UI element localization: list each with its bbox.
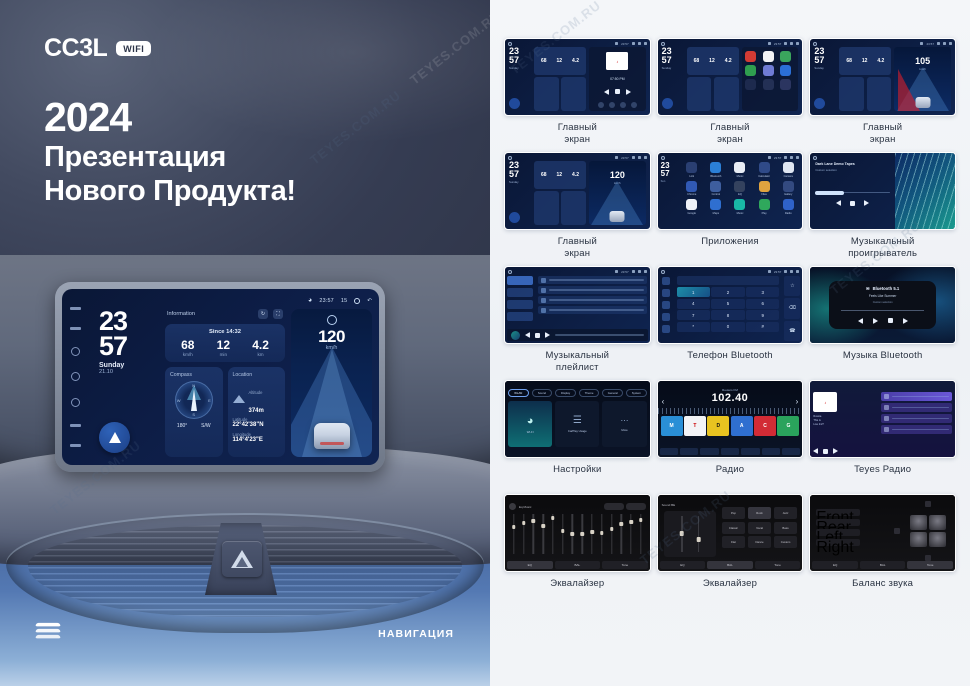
stat-value: 12 xyxy=(217,339,230,351)
settings-tab[interactable]: Sound xyxy=(532,389,553,397)
caption-line1: Эквалайзер xyxy=(550,578,604,589)
pause-icon[interactable] xyxy=(850,201,855,206)
eq-preset[interactable]: Classic xyxy=(722,522,746,534)
eq-band xyxy=(617,514,625,554)
caption: Музыкальный плейлист xyxy=(545,350,609,374)
screen-side-rail[interactable] xyxy=(62,289,88,465)
trip-since: Since 14:32 xyxy=(170,329,280,335)
dial-key[interactable]: 1 xyxy=(677,287,710,297)
speaker-rear-left xyxy=(910,532,927,547)
caption-line1: Музыкальный xyxy=(545,350,609,361)
eq-preset[interactable]: Flat xyxy=(722,536,746,548)
speaker-rear-right xyxy=(929,532,946,547)
screenshot-home-drive-red[interactable]: 23:57 2357Sunday 68124.2 105 km/h xyxy=(809,38,956,116)
settings-card-more[interactable]: ⋯ More xyxy=(602,401,646,447)
dialpad[interactable]: 1 2 3 4 5 6 7 8 9 * 0 # xyxy=(677,287,780,332)
location-widget[interactable]: Location Altitude 374m xyxy=(228,367,286,457)
screenshot-bluetooth-music[interactable]: 23:57 ✉ Bluetooth 5.1 Feels Like Summer … xyxy=(809,266,956,344)
screenshot-grid-panel: TEYES.COM.RU TEYES.COM.RU TEYES.COM.RU 2… xyxy=(490,0,970,686)
preset[interactable]: D xyxy=(707,416,729,436)
eq-band xyxy=(627,514,635,554)
screenshot-home-apps[interactable]: 23:57 2357Sunday 68124.2 xyxy=(657,38,804,116)
altitude-label: Altitude xyxy=(249,390,263,395)
compass-n: N xyxy=(192,383,195,388)
hazard-lights-button[interactable] xyxy=(222,541,262,577)
compass-e: E xyxy=(208,398,211,403)
current-speed: 120 xyxy=(291,327,372,347)
caption-line1: Главный xyxy=(710,122,749,133)
carplay-icon: ☰ xyxy=(573,415,582,426)
next-icon[interactable] xyxy=(833,448,838,454)
caption: Приложения xyxy=(701,236,759,260)
dial-key[interactable]: 4 xyxy=(677,299,710,309)
hazard-triangle-icon xyxy=(231,550,253,568)
mini-speed: 105 xyxy=(894,56,951,66)
station-row[interactable] xyxy=(881,403,952,412)
dial-key[interactable]: 2 xyxy=(711,287,744,297)
eq-preset[interactable]: Rock xyxy=(748,507,772,519)
balance-left-icon[interactable] xyxy=(894,528,900,534)
playlist-tab[interactable] xyxy=(507,312,533,321)
screenshot-sound-balance[interactable]: 23:57 Front Rear Left Right xyxy=(809,494,956,572)
next-icon[interactable] xyxy=(545,332,550,338)
playlist-tab[interactable] xyxy=(507,288,533,297)
frequency-dial[interactable] xyxy=(658,408,803,414)
dial-key[interactable]: 8 xyxy=(711,310,744,320)
dial-key[interactable]: 0 xyxy=(711,322,744,332)
caption: Эквалайзер xyxy=(703,578,757,602)
caption-line2: экран xyxy=(564,134,590,145)
next-icon[interactable] xyxy=(864,200,869,206)
next-station-icon[interactable]: › xyxy=(796,397,799,406)
head-unit-screen[interactable]: ◕ 23:57 15 ↶ 23 57 Sunday xyxy=(62,289,379,465)
radio-toolbar-button[interactable] xyxy=(721,448,739,455)
playlist-row[interactable] xyxy=(538,306,647,314)
card-label: CarPlay Usage xyxy=(568,429,587,433)
dial-key[interactable]: # xyxy=(746,322,779,332)
layers-icon xyxy=(36,622,60,642)
rail-menu-icon[interactable] xyxy=(70,307,81,310)
trip-stat: 4.2 km xyxy=(252,339,269,357)
station-row[interactable] xyxy=(881,414,952,423)
station-row[interactable] xyxy=(881,425,952,434)
bt-progress[interactable] xyxy=(841,310,924,311)
compass-s: S xyxy=(192,412,195,417)
eq-preset[interactable]: Pop xyxy=(722,507,746,519)
mini-speed: 120 xyxy=(589,170,646,180)
eq-preset-button[interactable] xyxy=(604,503,624,510)
eq-tab[interactable]: EQ xyxy=(812,561,858,569)
caption: Главный экран xyxy=(710,122,749,146)
radio-toolbar-button[interactable] xyxy=(782,448,800,455)
status-time: 23:57 xyxy=(319,298,334,304)
screenshot-equalizer[interactable]: 23:57 Eq Music xyxy=(504,494,651,572)
caption-line1: Радио xyxy=(716,464,744,475)
presentation-page: TEYES.COM.RU TEYES.COM.RU TEYES.COM.RU C… xyxy=(0,0,970,686)
card-label: More xyxy=(621,428,627,432)
caption: Баланс звука xyxy=(852,578,913,602)
screenshot-bluetooth-phone[interactable]: 23:57 1 2 xyxy=(657,266,804,344)
screenshot-playlist[interactable]: 23:57 xyxy=(504,266,651,344)
eq-band xyxy=(530,514,538,554)
caption: Радио xyxy=(716,464,744,488)
mountain-icon xyxy=(233,395,245,403)
mini-player-bar[interactable] xyxy=(507,329,648,341)
refresh-icon[interactable]: ↻ xyxy=(258,309,268,319)
bluetooth-version: Bluetooth 5.1 xyxy=(873,286,900,291)
dial-key[interactable]: 7 xyxy=(677,310,710,320)
eq-band xyxy=(578,514,586,554)
dial-key[interactable]: * xyxy=(677,322,710,332)
eq-title: Sound BE xyxy=(662,503,676,507)
settings-icon[interactable] xyxy=(662,325,670,333)
media-time: 07:50 PM xyxy=(610,77,625,81)
backspace-icon[interactable]: ⌫ xyxy=(784,298,800,318)
eq-band xyxy=(608,514,616,554)
eq-preset[interactable]: Dance xyxy=(748,536,772,548)
caption-line2: экран xyxy=(564,248,590,259)
longitude-value: 114°4'23"E xyxy=(233,437,281,443)
screenshot-equalizer-presets[interactable]: 23:57 Sound BE Pop Rock Jazz Classic V xyxy=(657,494,804,572)
head-unit-bezel: ◕ 23:57 15 ↶ 23 57 Sunday xyxy=(55,282,385,472)
preset[interactable]: A xyxy=(731,416,753,436)
album-art: ♪ xyxy=(813,392,837,412)
eq-band xyxy=(637,514,645,554)
eq-band xyxy=(569,514,577,554)
balance-side-list[interactable]: Front Rear Left Right xyxy=(816,509,860,546)
grid-item[interactable]: 23:57 2357Sunday 68124.2 xyxy=(657,38,804,146)
eq-preset[interactable]: Custom xyxy=(774,536,798,548)
eq-tab[interactable]: BAL xyxy=(860,561,906,569)
car-3d-model xyxy=(314,423,350,449)
head-unit-content: ◕ 23:57 15 ↶ 23 57 Sunday xyxy=(88,289,379,465)
eq-preset[interactable]: Bass xyxy=(774,522,798,534)
screenshot-grid: 23:57 2357Sunday 68124.2 ♪ 07:50 PM xyxy=(504,38,956,602)
wifi-icon: ◕ xyxy=(308,297,312,304)
previous-icon[interactable] xyxy=(836,200,841,206)
stat-unit: km/h xyxy=(181,352,194,357)
visualizer xyxy=(895,153,955,229)
navigation-label: НАВИГАЦИЯ xyxy=(378,628,454,640)
screenshot-settings[interactable]: 23:57 WLAN Sound Display Theme General S… xyxy=(504,380,651,458)
caption-line1: Главный xyxy=(558,236,597,247)
grid-item[interactable]: 23:57 Front Rear Left Right xyxy=(809,494,956,602)
grid-item[interactable]: 23:57 2357Sun Link Bluetooth Music Calcu… xyxy=(657,152,804,260)
radio-toolbar-button[interactable] xyxy=(700,448,718,455)
compass-heading: 180° xyxy=(177,423,187,429)
caption-line2: экран xyxy=(870,134,896,145)
caption-line2: экран xyxy=(717,134,743,145)
playlist-tab[interactable] xyxy=(507,300,533,309)
grid-item[interactable]: 23:57 Eq Music xyxy=(504,494,651,602)
wifi-badge: WIFI xyxy=(116,41,151,56)
grid-item[interactable]: 23:57 xyxy=(504,266,651,374)
radio-toolbar-button[interactable] xyxy=(660,448,678,455)
hero-year: 2024 xyxy=(44,94,296,140)
radio-toolbar-button[interactable] xyxy=(762,448,780,455)
screenshot-teyes-radio[interactable]: 23:57 ♪ RussiaThis isLive 24/7 xyxy=(809,380,956,458)
settings-tab[interactable]: System xyxy=(626,389,647,397)
eq-preset-button[interactable] xyxy=(626,503,646,510)
caption: Настройки xyxy=(553,464,601,488)
caption-line1: Музыка Bluetooth xyxy=(843,350,923,361)
rail-home-icon[interactable] xyxy=(71,372,80,381)
call-icon[interactable]: ☎ xyxy=(784,321,800,341)
eq-tab[interactable]: Tone xyxy=(907,561,953,569)
grid-item[interactable]: 23:57 1 2 xyxy=(657,266,804,374)
hero-panel: TEYES.COM.RU TEYES.COM.RU TEYES.COM.RU C… xyxy=(0,0,490,686)
more-icon: ⋯ xyxy=(621,416,629,425)
eq-preset-grid[interactable]: Pop Rock Jazz Classic Vocal Bass Flat Da… xyxy=(722,507,798,548)
preset[interactable]: T xyxy=(684,416,706,436)
preset[interactable]: M xyxy=(661,416,683,436)
trip-stat: 12 min xyxy=(217,339,230,357)
navigation-arrow-icon xyxy=(109,432,121,443)
rail-list-icon[interactable] xyxy=(70,327,81,330)
grid-item[interactable]: 23:57 2357Sunday 68124.2 ♪ 07:50 PM xyxy=(504,38,651,146)
screenshot-music-player[interactable]: 23:57 Dark Lane Demo Tapes Custom select… xyxy=(809,152,956,230)
altitude-value: 374m xyxy=(249,408,264,414)
eq-band xyxy=(539,514,547,554)
caption: Музыка Bluetooth xyxy=(843,350,923,374)
stop-icon[interactable] xyxy=(823,449,828,454)
dial-key[interactable]: 9 xyxy=(746,310,779,320)
balance-pad[interactable] xyxy=(904,509,952,553)
grid-item[interactable]: 23:57 2357Sunday 68124.2 120 km/h xyxy=(504,152,651,260)
mini-speed-unit: km/h xyxy=(589,181,646,185)
eq-tab[interactable]: EQ xyxy=(507,561,553,569)
eq-band xyxy=(549,514,557,554)
compass-direction: S/W xyxy=(201,423,210,429)
caption-line1: Главный xyxy=(558,122,597,133)
caption-line1: Приложения xyxy=(701,236,759,247)
balance-option[interactable]: Front xyxy=(816,509,860,516)
eq-tab[interactable]: BAL xyxy=(707,561,753,569)
stat-value: 68 xyxy=(181,339,194,351)
caption: Музыкальный проигрыватель xyxy=(848,236,917,260)
screenshot-home-drive[interactable]: 23:57 2357Sunday 68124.2 120 km/h xyxy=(504,152,651,230)
speed-unit: km/h xyxy=(291,345,372,351)
car-dashboard-photo: ◕ 23:57 15 ↶ 23 57 Sunday xyxy=(0,255,490,686)
preset[interactable]: C xyxy=(754,416,776,436)
grid-item[interactable]: 23:57 ✉ Bluetooth 5.1 Feels Like Summer … xyxy=(809,266,956,374)
caption-line1: Баланс звука xyxy=(852,578,913,589)
progress-bar[interactable] xyxy=(815,192,890,193)
eq-preset-icon[interactable] xyxy=(509,503,516,510)
station-meta: RussiaThis isLive 24/7 xyxy=(813,415,878,427)
bt-track: Feels Like Summer xyxy=(869,294,896,298)
status-bar: ◕ 23:57 15 ↶ xyxy=(95,295,372,306)
stop-icon[interactable] xyxy=(888,318,893,323)
caption: Главный экран xyxy=(863,122,902,146)
balance-up-icon[interactable] xyxy=(925,501,931,507)
eq-band xyxy=(598,514,606,554)
speed-limit-icon xyxy=(327,315,337,325)
caption: Главный экран xyxy=(558,122,597,146)
balance-option[interactable]: Right xyxy=(816,539,860,546)
navigation-fab[interactable] xyxy=(99,422,130,453)
stat-value: 4.2 xyxy=(252,339,269,351)
hero-subtitle-line2: Нового Продукта! xyxy=(44,174,296,208)
eq-dual-slider[interactable] xyxy=(664,511,716,557)
album-thumb xyxy=(511,331,520,340)
gear-icon[interactable] xyxy=(354,298,360,304)
playlist-row[interactable] xyxy=(538,296,647,304)
eq-tab[interactable]: EQ xyxy=(660,561,706,569)
grid-item[interactable]: 23:57 WLAN Sound Display Theme General S… xyxy=(504,380,651,488)
dialpad-icon[interactable] xyxy=(662,277,670,285)
hero-subtitle-line1: Презентация xyxy=(44,140,296,174)
information-title: Information xyxy=(167,311,195,317)
clock-widget: 23 57 Sunday 21.10 xyxy=(95,309,159,457)
dial-key[interactable]: 6 xyxy=(746,299,779,309)
eq-tab[interactable]: BAL xyxy=(555,561,601,569)
dial-key[interactable]: 3 xyxy=(746,287,779,297)
caption-line2: проигрыватель xyxy=(848,248,917,259)
settings-tab[interactable]: Display xyxy=(555,389,576,397)
star-icon[interactable]: ☆ xyxy=(784,276,800,296)
latitude-value: 22°42'38"N xyxy=(233,422,281,428)
rail-volume-up-icon[interactable] xyxy=(70,424,81,427)
radio-toolbar-button[interactable] xyxy=(741,448,759,455)
previous-icon[interactable] xyxy=(858,318,863,324)
settings-tab[interactable]: Theme xyxy=(579,389,600,397)
settings-tab[interactable]: WLAN xyxy=(508,389,529,397)
balance-option[interactable]: Rear xyxy=(816,519,860,526)
mini-speed-unit: km/h xyxy=(894,67,951,71)
stat-unit: km xyxy=(252,352,269,357)
screenshot-apps[interactable]: 23:57 2357Sun Link Bluetooth Music Calcu… xyxy=(657,152,804,230)
brand-logo: CC3L WIFI xyxy=(44,34,151,63)
caption-line1: Teyes Радио xyxy=(854,464,911,475)
track-artist: Custom selection xyxy=(815,168,890,172)
grid-item[interactable]: 23:57 Sound BE Pop Rock Jazz Classic V xyxy=(657,494,804,602)
dial-key[interactable]: 5 xyxy=(711,299,744,309)
settings-card-carplay[interactable]: ☰ CarPlay Usage xyxy=(555,401,599,447)
stat-unit: min xyxy=(217,352,230,357)
number-field[interactable] xyxy=(677,276,780,285)
card-label: WI-FI xyxy=(527,430,534,434)
clock-date: 21.10 xyxy=(99,369,159,375)
grid-item[interactable]: 23:57 2357Sunday 68124.2 105 km/h xyxy=(809,38,956,146)
radio-toolbar-button[interactable] xyxy=(680,448,698,455)
clock-minutes: 57 xyxy=(99,334,159,359)
bluetooth-icon: ✉ xyxy=(866,286,870,291)
back-icon[interactable]: ↶ xyxy=(367,298,372,304)
caption: Teyes Радио xyxy=(854,464,911,488)
playlist-row[interactable] xyxy=(538,276,647,284)
eq-band-sliders[interactable] xyxy=(505,510,650,554)
status-volume: 15 xyxy=(341,298,347,304)
driving-widget[interactable]: 120 km/h xyxy=(291,309,372,457)
next-icon[interactable] xyxy=(903,318,908,324)
expand-icon[interactable]: ⛶ xyxy=(273,309,283,319)
eq-title: Eq Music xyxy=(519,505,531,509)
caption: Телефон Bluetooth xyxy=(687,350,773,374)
caption-line1: Главный xyxy=(863,122,902,133)
album-art: ♪ xyxy=(606,52,628,70)
caption-line1: Настройки xyxy=(553,464,601,475)
hero-heading: 2024 Презентация Нового Продукта! xyxy=(44,94,296,208)
caption-line1: Телефон Bluetooth xyxy=(687,350,773,361)
contacts-icon[interactable] xyxy=(662,289,670,297)
compass-rose: N E S W xyxy=(175,381,213,419)
rail-back-icon[interactable] xyxy=(71,398,80,407)
location-title: Location xyxy=(233,372,281,378)
play-icon[interactable] xyxy=(873,318,878,324)
wifi-icon: ◕ xyxy=(527,415,534,427)
eq-preset[interactable]: Jazz xyxy=(774,507,798,519)
compass-widget[interactable]: Compass N E S W xyxy=(165,367,223,457)
speaker-front-left xyxy=(910,515,927,530)
rail-volume-down-icon[interactable] xyxy=(70,444,81,447)
call-log-icon[interactable] xyxy=(662,313,670,321)
eq-tab[interactable]: Tone xyxy=(755,561,801,569)
compass-w: W xyxy=(177,398,181,403)
brand-name: CC3L xyxy=(44,34,107,63)
grid-item[interactable]: 23:57 Reuters FM 102.40 ‹ › M T D xyxy=(657,380,804,488)
station-row[interactable] xyxy=(881,392,952,401)
speaker-front-right xyxy=(929,515,946,530)
settings-card-wifi[interactable]: ◕ WI-FI xyxy=(508,401,552,447)
pause-icon[interactable] xyxy=(535,333,540,338)
screenshot-home-media[interactable]: 23:57 2357Sunday 68124.2 ♪ 07:50 PM xyxy=(504,38,651,116)
playlist-row[interactable] xyxy=(538,286,647,294)
screenshot-radio[interactable]: 23:57 Reuters FM 102.40 ‹ › M T D xyxy=(657,380,804,458)
balance-option[interactable]: Left xyxy=(816,529,860,536)
previous-icon[interactable] xyxy=(813,448,818,454)
caption-line1: Музыкальный xyxy=(851,236,915,247)
grid-item[interactable]: 23:57 ♪ RussiaThis isLive 24/7 xyxy=(809,380,956,488)
favorites-icon[interactable] xyxy=(662,301,670,309)
preset[interactable]: G xyxy=(777,416,799,436)
previous-icon[interactable] xyxy=(525,332,530,338)
caption-line2: плейлист xyxy=(556,362,599,373)
eq-tab[interactable]: Tone xyxy=(602,561,648,569)
caption-line1: Эквалайзер xyxy=(703,578,757,589)
clock-day: Sunday xyxy=(99,362,159,369)
trip-stat: 68 km/h xyxy=(181,339,194,357)
caption: Главный экран xyxy=(558,236,597,260)
settings-tab[interactable]: General xyxy=(602,389,623,397)
eq-preset[interactable]: Vocal xyxy=(748,522,772,534)
grid-item[interactable]: 23:57 Dark Lane Demo Tapes Custom select… xyxy=(809,152,956,260)
track-title: Dark Lane Demo Tapes xyxy=(815,162,890,166)
eq-band xyxy=(520,514,528,554)
bt-artist: Custom selection xyxy=(873,301,893,304)
compass-title: Compass xyxy=(170,372,218,378)
caption: Эквалайзер xyxy=(550,578,604,602)
eq-band xyxy=(588,514,596,554)
playlist-tab[interactable] xyxy=(507,276,533,285)
eq-band xyxy=(510,514,518,554)
trip-info-card: Since 14:32 68 km/h 12 min xyxy=(165,324,285,362)
eq-band xyxy=(559,514,567,554)
prev-station-icon[interactable]: ‹ xyxy=(662,397,665,406)
rail-power-icon[interactable] xyxy=(71,347,80,356)
